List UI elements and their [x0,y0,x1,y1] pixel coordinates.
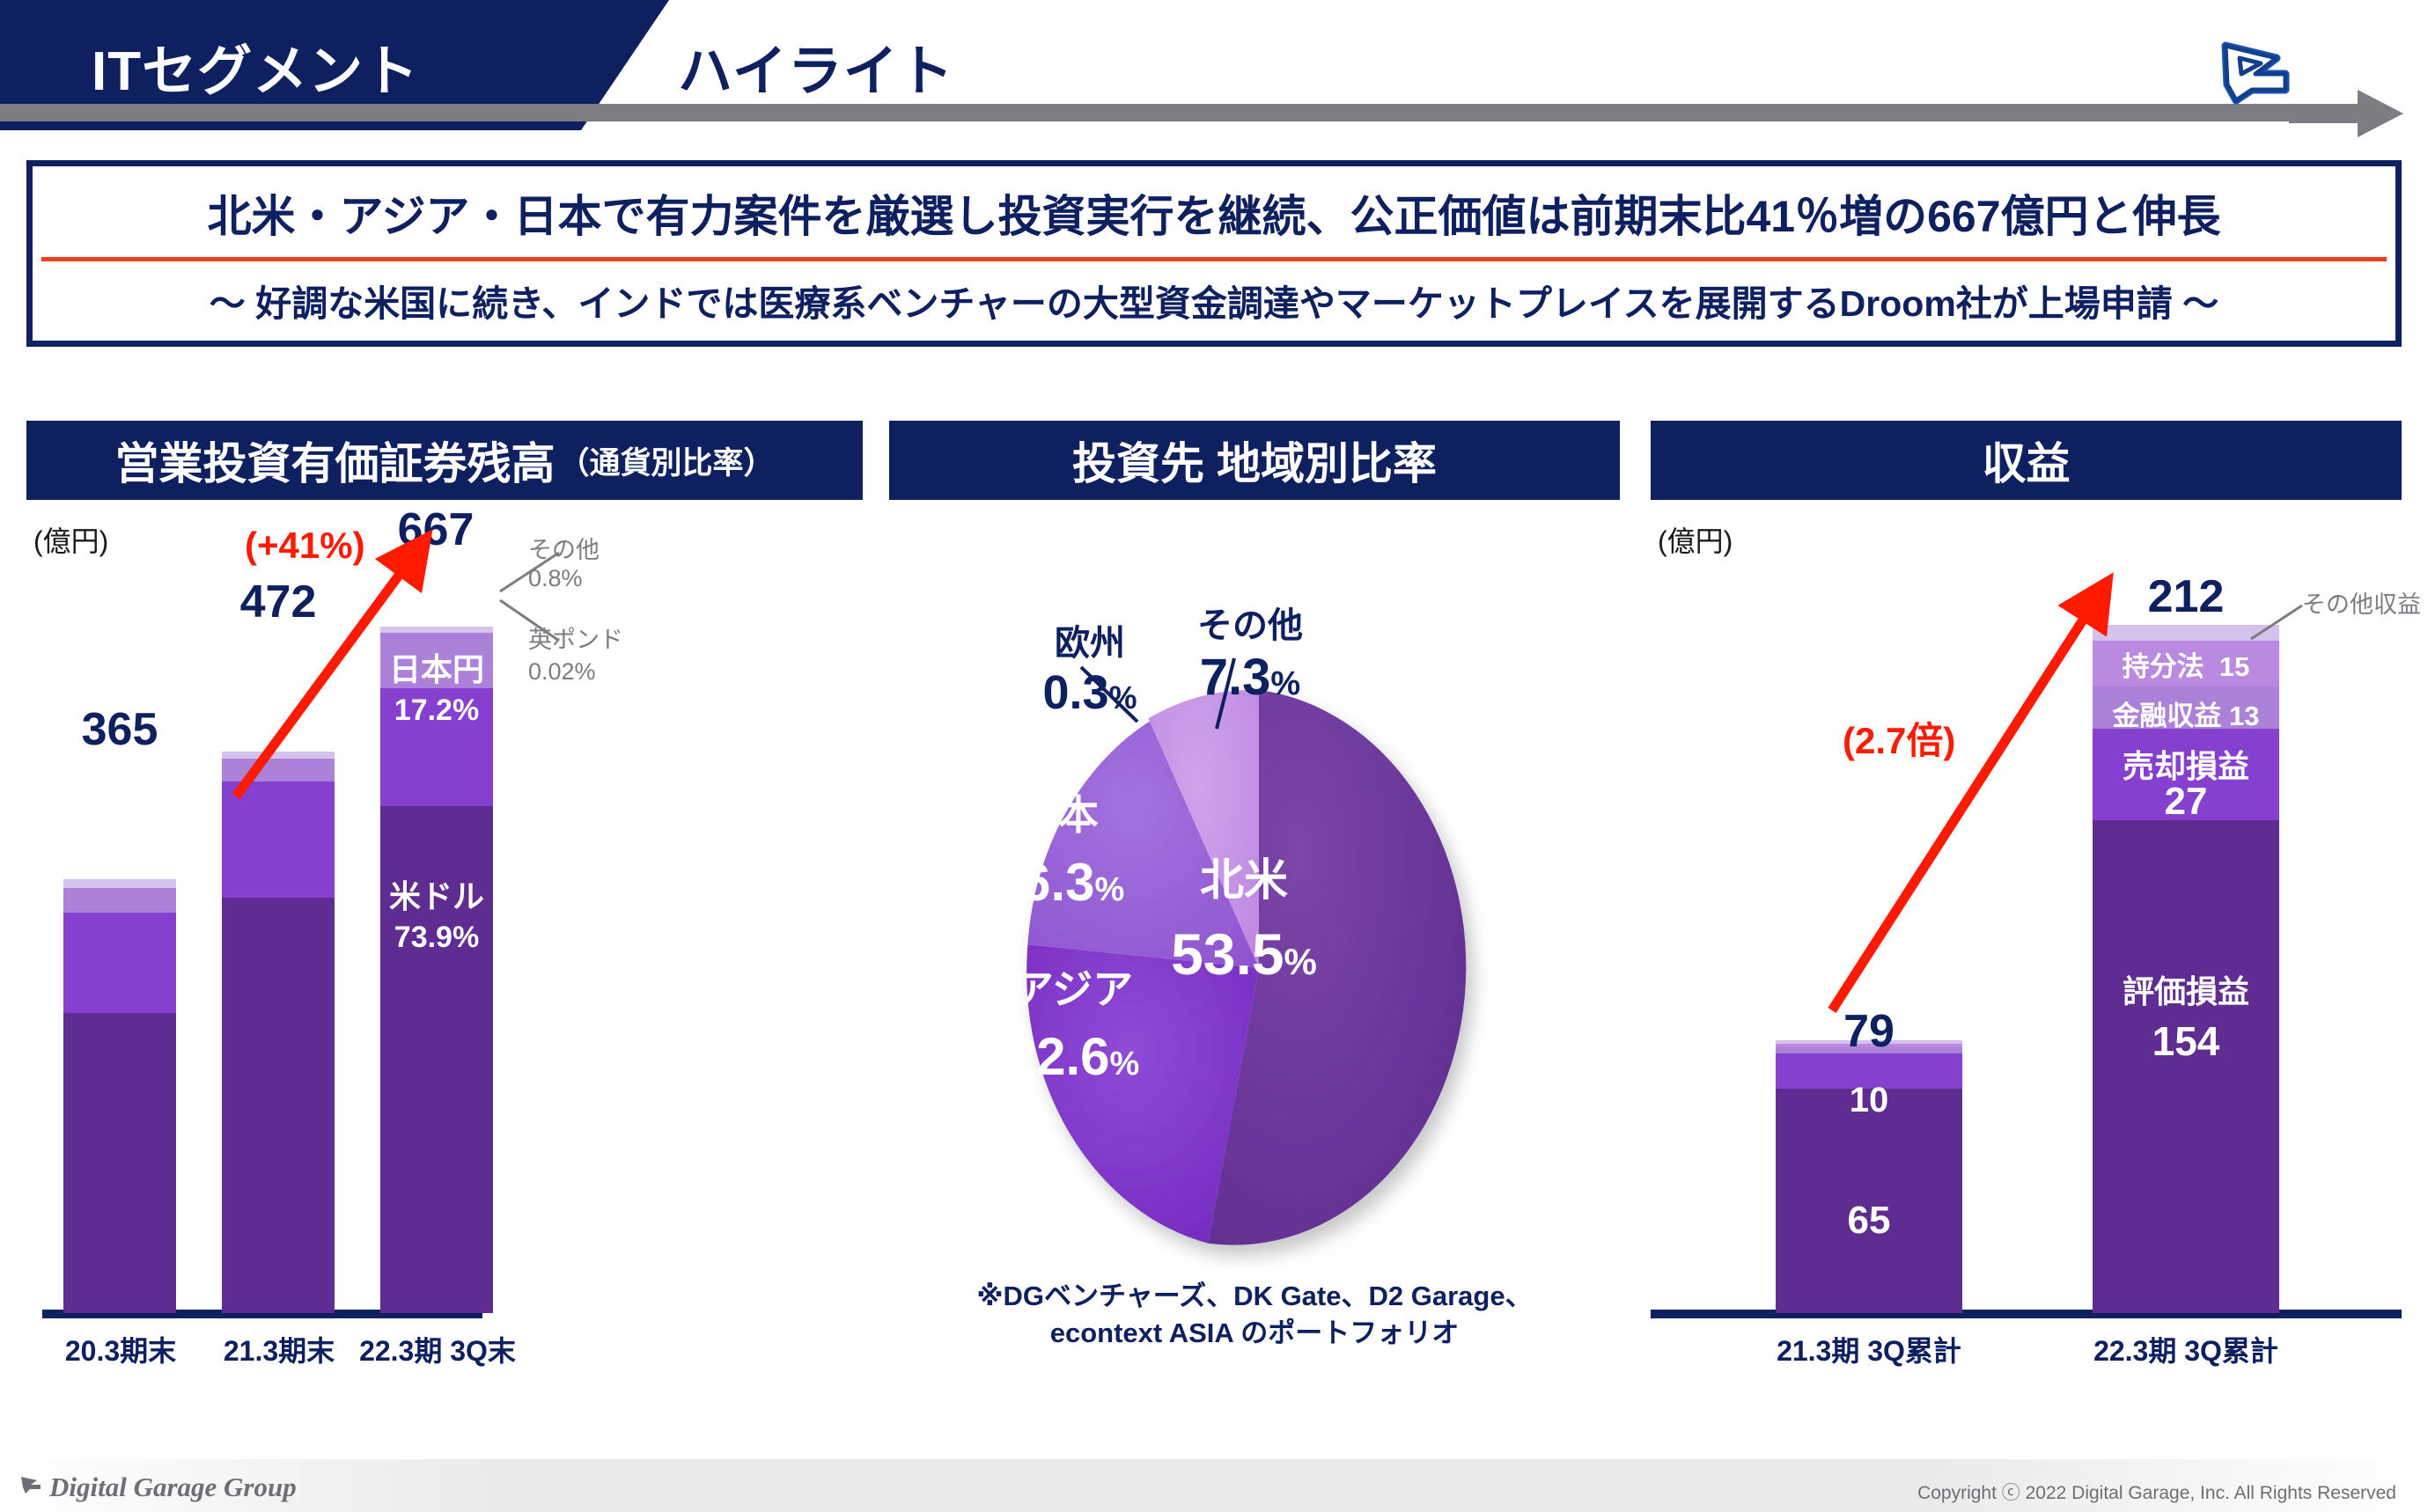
unit-label-left: (億円) [33,519,108,560]
key-message-headline: 北米・アジア・日本で有力案件を厳選し投資実行を継続、公正価値は前期末比41％増の… [33,170,2395,256]
footer-brand: Digital Garage Group [49,1472,297,1503]
right-arrow-icon [2289,86,2403,141]
chart-region-mix: 欧州 0.3% その他 7.3% 北米 53.5% 日本 16.3% アジア 2… [889,519,1620,1417]
growth-arrow-right [1818,572,2126,1021]
pie-footnote-line2: econtext ASIA のポートフォリオ [889,1315,1620,1352]
pie-label-japan: 日本 16.3% [970,783,1146,913]
bar-20-3 [63,879,176,1313]
seg-value-usd: 73.9% [380,921,493,955]
cat-label-22-3: 22.3期 3Q末 [354,1329,521,1369]
bar-seg-inr-1 [63,888,176,913]
chart-revenue: (億円) 79 21.3期 3Q累計 10 65 212 22.3期 3Q累計 … [1651,519,2402,1417]
rev-callout-other: その他収益 [2302,591,2421,619]
rev-value-valuation-2: 154 [2093,1017,2279,1065]
key-message-box: 北米・アジア・日本で有力案件を厳選し投資実行を継続、公正価値は前期末比41％増の… [26,160,2402,347]
pie-label-northamerica-name: 北米 [1143,845,1345,908]
pie-label-northamerica: 北米 53.5% [1143,845,1345,987]
key-message-subline: 〜 好調な米国に続き、インドでは医療系ベンチャーの大型資金調達やマーケットプレイ… [33,261,2395,339]
pie-footnote: ※DGベンチャーズ、DK Gate、D2 Garage、 econtext AS… [889,1278,1620,1352]
pie-label-europe-name: 欧州 [1019,614,1160,665]
rev-cat-label-21-3: 21.3期 3Q累計 [1749,1329,1989,1369]
pie-label-other-value: 7.3% [1171,648,1329,707]
chart-securities-balance: (億円) 365 20.3期末 472 21.3期末 667 22 [26,519,863,1417]
slide: ITセグメント ハイライト 北米・アジア・日本で有力案件を厳選し投資実行を継続、… [0,0,2428,1512]
bar-seg-usd-2 [222,898,335,1313]
x-axis-right [1651,1310,2402,1318]
panel-title-revenue: 収益 [1983,429,2071,492]
cat-label-20-3: 20.3期末 [46,1329,195,1369]
pie-label-other-name: その他 [1171,597,1329,648]
cat-label-21-3: 21.3期末 [204,1329,354,1369]
bar-total-20-3: 365 [63,703,176,756]
bar-21-3 [222,752,335,1313]
page-title: ハイライト [678,26,954,106]
panel-title-securities: 営業投資有価証券残高 [114,429,555,492]
segment-title: ITセグメント [92,26,419,106]
pie-label-europe-value: 0.3% [1019,665,1160,720]
pie-label-other: その他 7.3% [1171,597,1329,707]
rev-cat-label-22-3: 22.3期 3Q累計 [2066,1329,2306,1369]
bar-seg-jpy-1 [63,913,176,1013]
pie-label-japan-name: 日本 [970,783,1146,841]
pie-label-asia-name: アジア [981,958,1166,1016]
pie-label-asia-value: 22.6% [981,1026,1166,1087]
panel-subtitle-securities: （通貨別比率） [558,438,774,483]
slide-header: ITセグメント ハイライト [0,0,2428,130]
rev-value-sale-1: 10 [1776,1081,1962,1120]
panel-header-revenue: 収益 [1651,421,2402,500]
panel-title-region: 投資先 地域別比率 [1072,429,1437,492]
pie-label-asia: アジア 22.6% [981,958,1166,1087]
pie-label-europe: 欧州 0.3% [1019,614,1160,720]
footer-copyright: Copyright ⓒ 2022 Digital Garage, Inc. Al… [1917,1479,2396,1505]
rev-callout-leader [2232,600,2320,653]
panel-header-securities: 営業投資有価証券残高 （通貨別比率） [26,421,863,500]
bar-seg-other-1 [63,879,176,888]
growth-arrow-left [220,528,449,810]
unit-label-right: (億円) [1658,519,1733,560]
pie-label-japan-value: 16.3% [970,852,1146,913]
header-gray-rule [0,104,2307,121]
callout-leader-lines [467,537,563,678]
rev-value-valuation-1: 65 [1776,1199,1962,1243]
dg-mark-icon [19,1472,49,1500]
bar-seg-usd-1 [63,1013,176,1313]
panel-header-region: 投資先 地域別比率 [889,421,1620,500]
pie-footnote-line1: ※DGベンチャーズ、DK Gate、D2 Garage、 [889,1278,1620,1315]
seg-label-usd: 米ドル [380,871,493,917]
pie-label-northamerica-value: 53.5% [1143,921,1345,987]
